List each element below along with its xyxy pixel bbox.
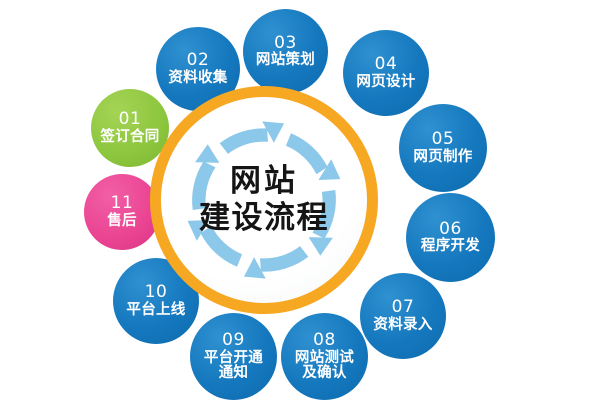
- step-label: 程序开发: [421, 239, 480, 254]
- flowchart-diagram: 01 签订合同 02 资料收集 03 网站策划 04 网页设计 05 网页制作 …: [0, 0, 600, 400]
- step-label: 网页设计: [356, 75, 415, 90]
- step-label-line2: 通知: [219, 366, 249, 381]
- step-label: 平台开通: [204, 351, 263, 366]
- cycle-arrow-4: [238, 231, 308, 296]
- step-label: 平台上线: [126, 303, 185, 318]
- step-node-09[interactable]: 09 平台开通 通知: [190, 313, 277, 400]
- step-label: 网站策划: [256, 53, 315, 68]
- step-node-08[interactable]: 08 网站测试 及确认: [281, 313, 368, 400]
- step-label-line2: 及确认: [302, 366, 346, 381]
- step-label: 网站测试: [295, 351, 354, 366]
- cycle-arrow-6: [184, 143, 225, 210]
- step-number: 04: [375, 56, 398, 74]
- step-label: 资料收集: [168, 71, 227, 86]
- cycle-arrows-group: [161, 97, 367, 303]
- step-number: 05: [432, 131, 455, 149]
- step-number: 01: [119, 111, 142, 129]
- step-label: 资料录入: [373, 318, 432, 333]
- step-number: 11: [111, 195, 134, 213]
- ring-inner-area: 网站 建设流程: [161, 97, 367, 303]
- cycle-arrow-5: [179, 213, 250, 267]
- cycle-arrow-1: [220, 104, 290, 169]
- step-label: 签订合同: [100, 130, 159, 145]
- step-node-03[interactable]: 03 网站策划: [243, 9, 328, 94]
- step-label: 售后: [107, 214, 137, 229]
- step-number: 02: [187, 52, 210, 70]
- cycle-arrow-3: [303, 190, 344, 257]
- center-ring: 网站 建设流程: [150, 86, 378, 314]
- cycle-arrow-2: [279, 133, 350, 187]
- step-node-05[interactable]: 05 网页制作: [399, 104, 487, 192]
- step-number: 09: [222, 332, 245, 350]
- step-number: 08: [313, 332, 336, 350]
- step-node-07[interactable]: 07 资料录入: [360, 273, 446, 359]
- step-number: 07: [392, 299, 415, 317]
- step-number: 06: [439, 221, 462, 239]
- step-node-01[interactable]: 01 签订合同: [91, 89, 169, 167]
- step-node-11[interactable]: 11 售后: [84, 174, 160, 250]
- step-label: 网页制作: [413, 150, 472, 165]
- step-number: 03: [274, 35, 297, 53]
- step-node-06[interactable]: 06 程序开发: [406, 193, 495, 282]
